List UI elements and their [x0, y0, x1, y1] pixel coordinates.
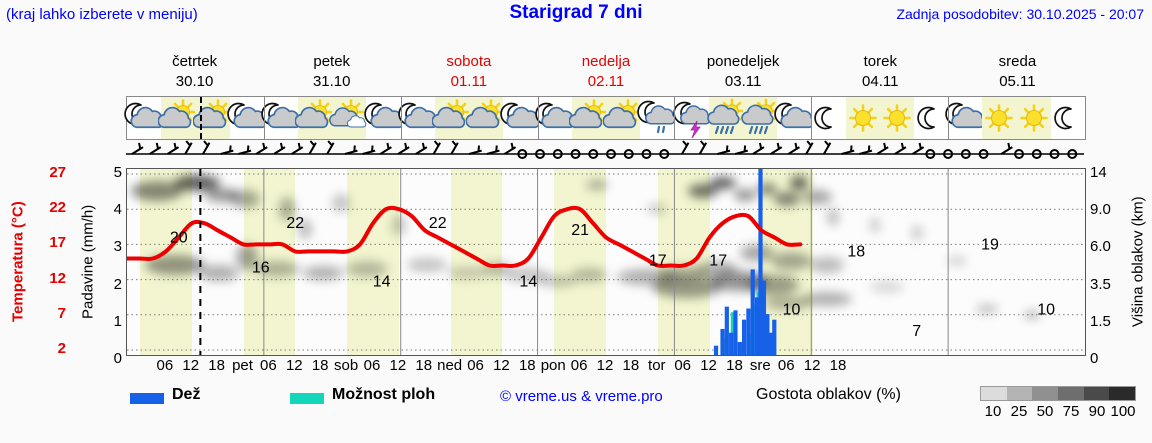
temperature-axis-title: Temperatura (°C) [6, 168, 30, 356]
day-date: 05.11 [949, 72, 1086, 92]
weather-icon-cell-28 [1051, 97, 1085, 139]
precip-ticks-value: 2 [114, 276, 122, 293]
temp-ticks-value: 7 [58, 305, 66, 322]
cloud-density-legend: Gostota oblakov (%) 1025507590100 [744, 384, 1144, 430]
weather-icon-cell-10 [435, 97, 469, 139]
x-tick-label: sre [750, 357, 771, 374]
cloud-density-step-4 [1058, 387, 1084, 400]
x-tick-label: 12 [700, 357, 717, 374]
precipitation-axis-ticks: 543210 [100, 160, 122, 364]
weather-icon-cell-22 [846, 97, 880, 139]
temp-ticks-value: 2 [58, 340, 66, 357]
precip-ticks-value: 4 [114, 201, 122, 218]
x-axis-ticks: 061218pet061218sob061218ned061218pon0612… [126, 357, 1086, 379]
x-tick-label: pon [541, 357, 566, 374]
cloud-density-gradient-bar [980, 386, 1136, 401]
day-name: torek [812, 52, 949, 72]
cloud-density-step-5 [1084, 387, 1110, 400]
cloud-density-step-3 [1032, 387, 1058, 400]
x-tick-label: 06 [674, 357, 691, 374]
day-date: 03.11 [675, 72, 812, 92]
temp-ticks-value: 22 [49, 199, 66, 216]
temp-ticks-value: 17 [49, 234, 66, 251]
cloud-density-step-6 [1109, 387, 1135, 400]
cloud-density-step-2 [1007, 387, 1033, 400]
svg-text:18: 18 [847, 243, 865, 260]
precip-ticks-value: 3 [114, 238, 122, 255]
x-tick-label: 06 [260, 357, 277, 374]
svg-text:10: 10 [783, 302, 801, 319]
x-tick-label: 12 [597, 357, 614, 374]
svg-text:7: 7 [912, 323, 921, 340]
weather-icon-cell-8 [367, 97, 401, 139]
cloud-density-step-1 [981, 387, 1007, 400]
x-tick-label: pet [232, 357, 253, 374]
weather-icon-band [126, 96, 1086, 140]
weather-icon-cell-26 [982, 97, 1016, 139]
temp-ticks-value: 27 [49, 164, 66, 181]
meteogram-plot: 15201622142214211717101871910 [126, 168, 1086, 356]
x-tick-label: 12 [286, 357, 303, 374]
svg-text:21: 21 [571, 222, 589, 239]
weather-icon-cell-9 [401, 97, 435, 139]
svg-text:22: 22 [429, 215, 447, 232]
day-separator [948, 97, 949, 139]
precipitation-axis-title: Padavine (mm/h) [76, 168, 100, 356]
x-tick-label: 12 [182, 357, 199, 374]
x-tick-label: 18 [726, 357, 743, 374]
svg-text:17: 17 [709, 252, 727, 269]
weather-icon-cell-12 [503, 97, 537, 139]
x-tick-label: 18 [312, 357, 329, 374]
cloud-height-axis-title: Višina oblakov (km) [1126, 168, 1150, 356]
day-separator [811, 97, 812, 139]
day-name: ponedeljek [675, 52, 812, 72]
precip-ticks-value: 1 [114, 313, 122, 330]
weather-icon-cell-1 [127, 97, 161, 139]
x-tick-label: 18 [208, 357, 225, 374]
x-tick-label: ned [437, 357, 462, 374]
x-tick-label: 06 [156, 357, 173, 374]
weather-icon-cell-27 [1017, 97, 1051, 139]
day-date: 31.10 [263, 72, 400, 92]
day-header-2: petek31.10 [263, 52, 400, 94]
rain-legend-swatch [130, 393, 164, 404]
x-tick-label: 18 [623, 357, 640, 374]
weather-icon-cell-19 [743, 97, 777, 139]
weather-icon-cell-6 [298, 97, 332, 139]
x-tick-label: 06 [467, 357, 484, 374]
day-header-6: torek04.11 [812, 52, 949, 94]
svg-text:20: 20 [170, 229, 188, 246]
wind-barbs [126, 140, 1084, 168]
day-header-1: četrtek30.10 [126, 52, 263, 94]
weather-icon-cell-25 [948, 97, 982, 139]
cloud-ticks-value: 6.0 [1090, 238, 1111, 255]
x-tick-label: 06 [778, 357, 795, 374]
day-separator [674, 97, 675, 139]
weather-icon-cell-20 [777, 97, 811, 139]
cloud-density-tick: 25 [1011, 403, 1028, 420]
svg-text:14: 14 [519, 274, 537, 291]
moon-icon [1048, 98, 1088, 138]
weather-icon-cell-21 [811, 97, 845, 139]
meteogram-svg: 15201622142214211717101871910 [127, 169, 1085, 355]
day-date: 01.11 [400, 72, 537, 92]
x-tick-label: 06 [571, 357, 588, 374]
x-tick-label: 12 [804, 357, 821, 374]
cloud-density-tick-labels: 1025507590100 [969, 403, 1144, 423]
x-tick-label: 12 [493, 357, 510, 374]
svg-text:16: 16 [252, 259, 270, 276]
weather-icon-cell-11 [469, 97, 503, 139]
day-name: sreda [949, 52, 1086, 72]
cloud-ticks-value: 1.5 [1090, 313, 1111, 330]
wind-barb-band [126, 140, 1086, 168]
temp-ticks-value: 12 [49, 270, 66, 287]
day-date: 30.10 [126, 72, 263, 92]
day-header-5: ponedeljek03.11 [675, 52, 812, 94]
x-tick-label: 06 [364, 357, 381, 374]
weather-icon-cell-7 [332, 97, 366, 139]
weather-icon-cell-15 [606, 97, 640, 139]
svg-text:22: 22 [286, 215, 304, 232]
svg-text:17: 17 [649, 252, 667, 269]
day-header-3: sobota01.11 [400, 52, 537, 94]
weather-icon-cell-17 [674, 97, 708, 139]
x-tick-label: sob [334, 357, 358, 374]
precip-ticks-value: 0 [114, 350, 122, 367]
showers-legend-label: Možnost ploh [332, 386, 435, 404]
day-header-7: sreda05.11 [949, 52, 1086, 94]
rain-legend-label: Dež [172, 386, 200, 404]
svg-text:10: 10 [1037, 302, 1055, 319]
showers-legend-swatch [290, 393, 324, 404]
weather-icon-cell-24 [914, 97, 948, 139]
weather-icon-cell-14 [572, 97, 606, 139]
weather-icon-cell-4 [230, 97, 264, 139]
weather-icon-cell-2 [161, 97, 195, 139]
weather-icon-cell-18 [709, 97, 743, 139]
day-separator [538, 97, 539, 139]
temperature-axis-ticks: 2722171272 [34, 160, 66, 364]
cloud-ticks-value: 3.5 [1090, 276, 1111, 293]
cloud-ticks-value: 0 [1090, 350, 1098, 367]
day-separator [401, 97, 402, 139]
day-name: četrtek [126, 52, 263, 72]
x-tick-label: 12 [390, 357, 407, 374]
day-date: 04.11 [812, 72, 949, 92]
x-tick-label: 18 [415, 357, 432, 374]
svg-text:19: 19 [981, 236, 999, 253]
weather-icon-cell-23 [880, 97, 914, 139]
x-tick-label: 18 [519, 357, 536, 374]
day-name: nedelja [537, 52, 674, 72]
svg-text:14: 14 [373, 274, 391, 291]
weather-icon-cell-13 [538, 97, 572, 139]
cloud-density-tick: 75 [1063, 403, 1080, 420]
last-updated: Zadnja posodobitev: 30.10.2025 - 20:07 [896, 6, 1144, 22]
cloud-ticks-value: 14 [1090, 164, 1107, 181]
weather-icon-cell-16 [640, 97, 674, 139]
cloud-density-tick: 90 [1089, 403, 1106, 420]
day-header-4: nedelja02.11 [537, 52, 674, 94]
weather-icon-cell-5 [264, 97, 298, 139]
x-tick-label: 18 [830, 357, 847, 374]
cloud-density-legend-title: Gostota oblakov (%) [756, 386, 901, 404]
cloud-density-tick: 100 [1110, 403, 1135, 420]
day-name: petek [263, 52, 400, 72]
cloud-density-raster [131, 175, 1040, 319]
cloud-ticks-value: 9.0 [1090, 201, 1111, 218]
top-bar: (kraj lahko izberete v meniju) Starigrad… [0, 0, 1152, 32]
cloud-density-tick: 50 [1037, 403, 1054, 420]
day-name: sobota [400, 52, 537, 72]
x-tick-label: tor [648, 357, 666, 374]
cloud-density-tick: 10 [985, 403, 1002, 420]
day-date: 02.11 [537, 72, 674, 92]
day-header: četrtek30.10petek31.10sobota01.11nedelja… [126, 52, 1086, 94]
precip-ticks-value: 5 [114, 164, 122, 181]
temperature-curve [127, 208, 800, 266]
day-separator [264, 97, 265, 139]
copyright-notice[interactable]: © vreme.us & vreme.pro [500, 388, 663, 405]
now-marker [200, 97, 202, 139]
